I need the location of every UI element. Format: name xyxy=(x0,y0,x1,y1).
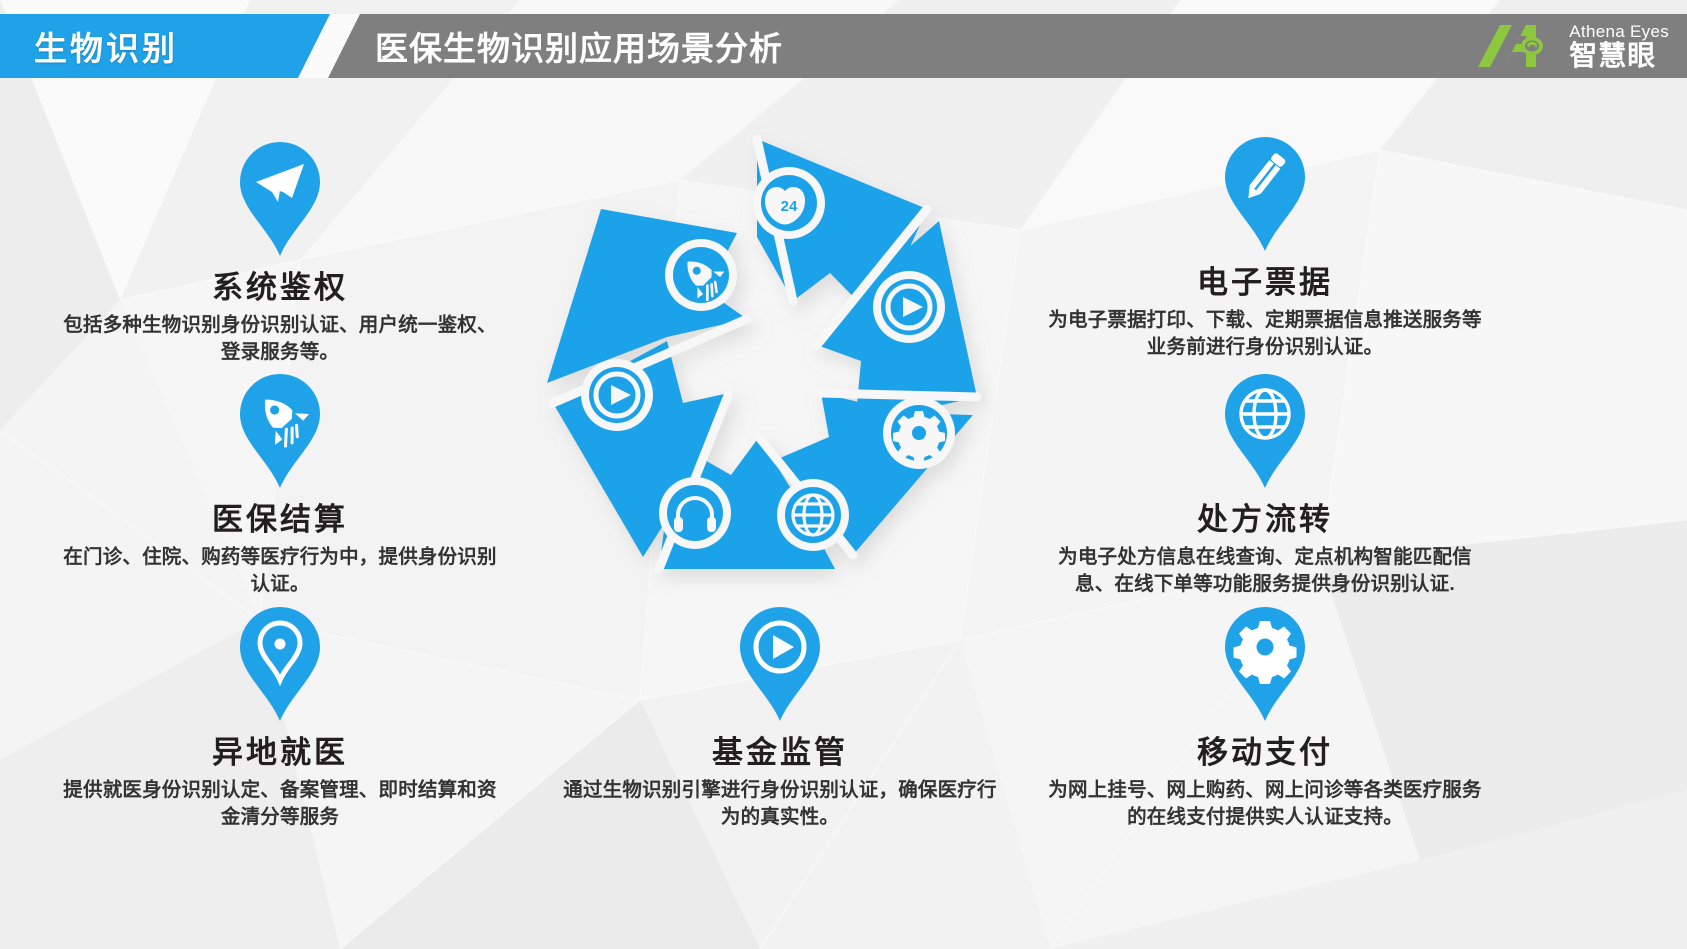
play-circle-icon xyxy=(734,605,826,723)
feature-item-insurance-settlement: 医保结算 在门诊、住院、购药等医疗行为中，提供身份识别认证。 xyxy=(60,372,500,598)
logo-name-cn: 智慧眼 xyxy=(1569,42,1669,70)
badge-24-label: 24 xyxy=(781,198,798,215)
feature-item-system-auth: 系统鉴权 包括多种生物识别身份识别认证、用户统一鉴权、登录服务等。 xyxy=(60,140,500,366)
logo-text-block: Athena Eyes 智慧眼 xyxy=(1569,23,1669,70)
rocket-icon xyxy=(234,372,326,490)
item-title: 异地就医 xyxy=(60,727,500,772)
globe-icon xyxy=(1219,372,1311,490)
item-description: 为电子处方信息在线查询、定点机构智能匹配信息、在线下单等功能服务提供身份识别认证… xyxy=(1040,544,1490,598)
item-description: 在门诊、住院、购药等医疗行为中，提供身份识别认证。 xyxy=(60,544,500,598)
feature-item-prescription-flow: 处方流转 为电子处方信息在线查询、定点机构智能匹配信息、在线下单等功能服务提供身… xyxy=(1040,372,1490,598)
item-title: 移动支付 xyxy=(1040,727,1490,772)
feature-item-fund-supervision: 基金监管 通过生物识别引擎进行身份识别认证，确保医疗行为的真实性。 xyxy=(560,605,1000,831)
location-pin-icon xyxy=(234,605,326,723)
item-description: 包括多种生物识别身份识别认证、用户统一鉴权、登录服务等。 xyxy=(60,312,500,366)
header-tag-label: 生物识别 xyxy=(34,14,178,78)
hexagon-pinwheel-diagram: 24 xyxy=(525,125,995,595)
item-title: 系统鉴权 xyxy=(60,262,500,307)
pin-wrap xyxy=(1040,605,1490,723)
item-title: 医保结算 xyxy=(60,494,500,539)
header xyxy=(0,14,1687,78)
gear-icon xyxy=(1219,605,1311,723)
item-description: 为电子票据打印、下载、定期票据信息推送服务等业务前进行身份识别认证。 xyxy=(1040,307,1490,361)
pin-wrap xyxy=(1040,135,1490,253)
feature-item-e-invoice: 电子票据 为电子票据打印、下载、定期票据信息推送服务等业务前进行身份识别认证。 xyxy=(1040,135,1490,361)
item-title: 处方流转 xyxy=(1040,494,1490,539)
pin-wrap xyxy=(60,372,500,490)
logo-name-en: Athena Eyes xyxy=(1569,23,1669,40)
pin-wrap xyxy=(560,605,1000,723)
athena-eyes-logo-icon xyxy=(1474,21,1560,71)
feature-item-remote-care: 异地就医 提供就医身份识别认定、备案管理、即时结算和资金清分等服务 xyxy=(60,605,500,831)
pin-wrap xyxy=(60,605,500,723)
header-bar-shape xyxy=(0,14,1687,78)
item-description: 通过生物识别引擎进行身份识别认证，确保医疗行为的真实性。 xyxy=(560,777,1000,831)
item-title: 基金监管 xyxy=(560,727,1000,772)
pencil-icon xyxy=(1219,135,1311,253)
brand-logo: Athena Eyes 智慧眼 xyxy=(1474,16,1669,76)
pin-wrap xyxy=(60,140,500,258)
paper-plane-icon xyxy=(234,140,326,258)
item-title: 电子票据 xyxy=(1040,257,1490,302)
feature-item-mobile-payment: 移动支付 为网上挂号、网上购药、网上问诊等各类医疗服务的在线支付提供实人认证支持… xyxy=(1040,605,1490,831)
pin-wrap xyxy=(1040,372,1490,490)
page-title: 医保生物识别应用场景分析 xyxy=(375,14,783,78)
item-description: 为网上挂号、网上购药、网上问诊等各类医疗服务的在线支付提供实人认证支持。 xyxy=(1040,777,1490,831)
item-description: 提供就医身份识别认定、备案管理、即时结算和资金清分等服务 xyxy=(60,777,500,831)
